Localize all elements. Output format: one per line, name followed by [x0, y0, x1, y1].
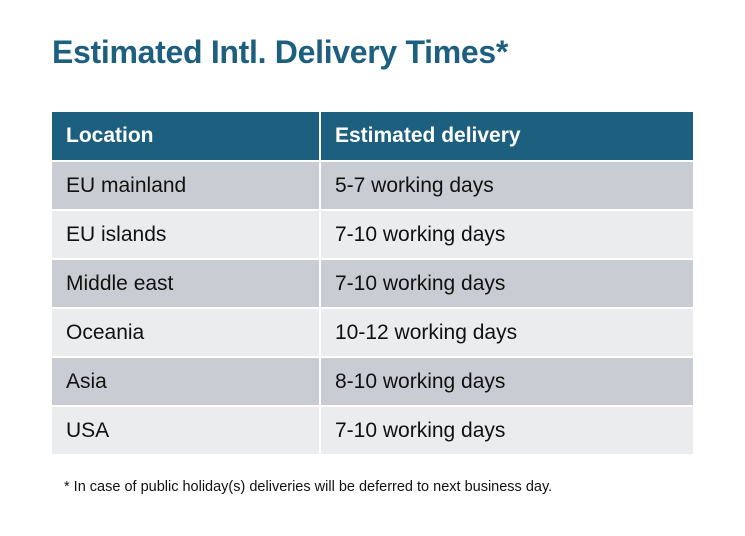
table-row: Oceania 10-12 working days [52, 307, 693, 356]
delivery-times-document: Estimated Intl. Delivery Times* Location… [0, 0, 745, 536]
cell-location: Asia [52, 356, 321, 405]
table-row: EU islands 7-10 working days [52, 209, 693, 258]
cell-delivery: 8-10 working days [321, 356, 693, 405]
column-header-estimated-delivery: Estimated delivery [321, 112, 693, 160]
cell-location: Oceania [52, 307, 321, 356]
table-row: USA 7-10 working days [52, 405, 693, 454]
delivery-times-table: Location Estimated delivery EU mainland … [52, 112, 693, 454]
footnote-text: * In case of public holiday(s) deliverie… [64, 479, 552, 495]
cell-delivery: 5-7 working days [321, 160, 693, 209]
table-row: Asia 8-10 working days [52, 356, 693, 405]
cell-location: USA [52, 405, 321, 454]
page-title: Estimated Intl. Delivery Times* [52, 34, 508, 71]
cell-delivery: 7-10 working days [321, 209, 693, 258]
cell-location: EU islands [52, 209, 321, 258]
cell-location: Middle east [52, 258, 321, 307]
table-row: EU mainland 5-7 working days [52, 160, 693, 209]
cell-location: EU mainland [52, 160, 321, 209]
cell-delivery: 7-10 working days [321, 258, 693, 307]
cell-delivery: 7-10 working days [321, 405, 693, 454]
cell-delivery: 10-12 working days [321, 307, 693, 356]
table-row: Middle east 7-10 working days [52, 258, 693, 307]
table-header-row: Location Estimated delivery [52, 112, 693, 160]
column-header-location: Location [52, 112, 321, 160]
